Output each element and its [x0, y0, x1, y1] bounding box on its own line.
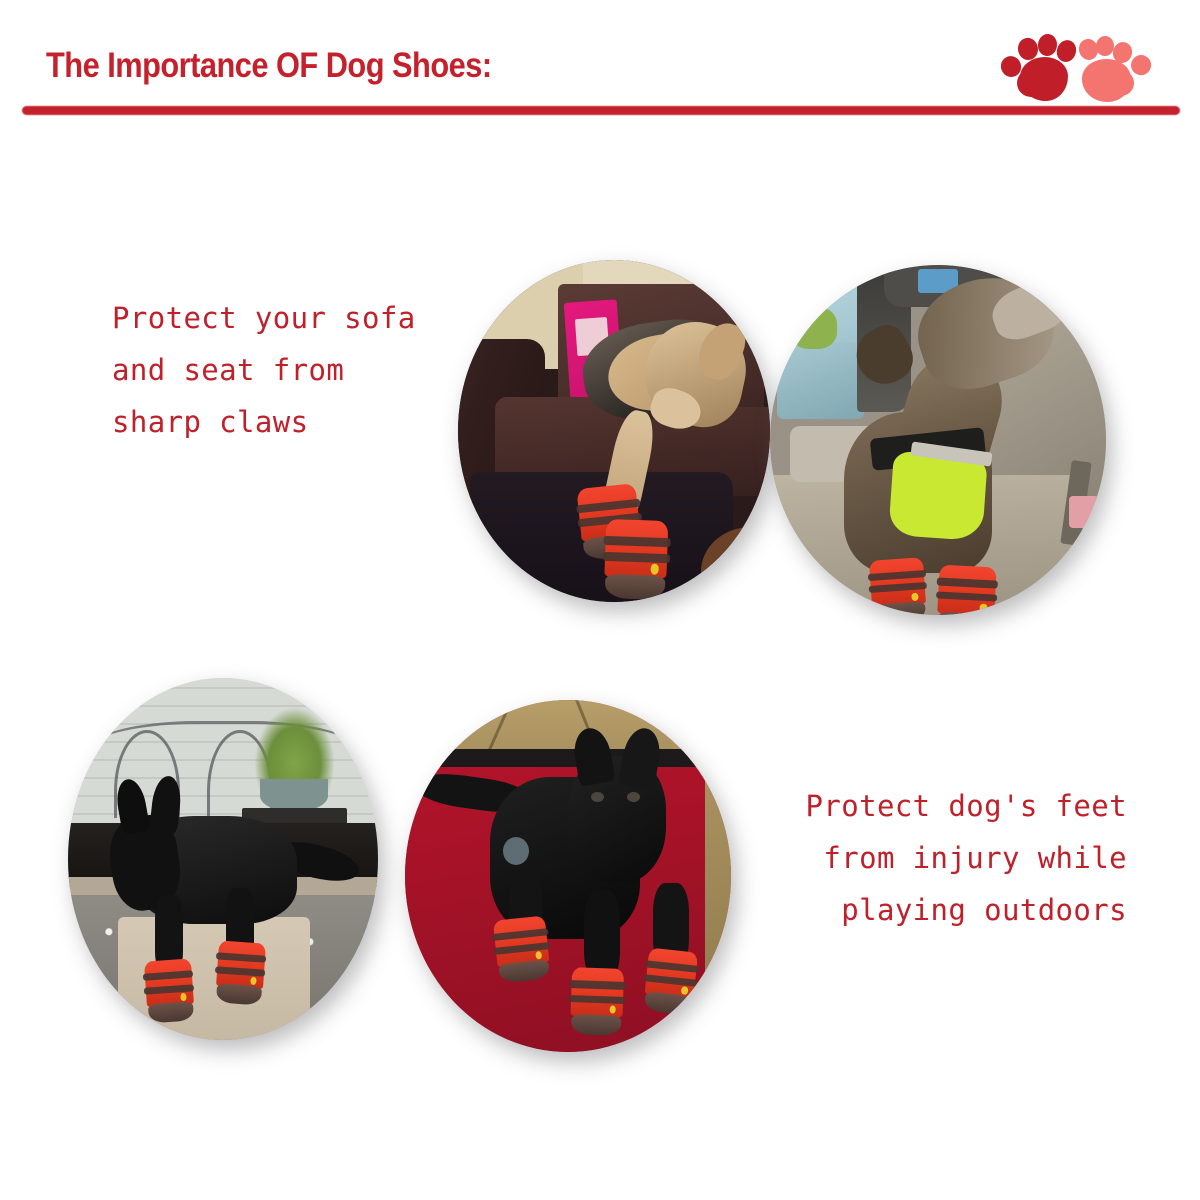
photo-dog-on-sofa	[458, 260, 770, 602]
yard-scene	[68, 678, 378, 1040]
photo-dog-in-car	[770, 265, 1106, 615]
dog-eye	[591, 792, 604, 803]
seat-belt-buckle	[1069, 496, 1099, 528]
callout-left-line-2: and seat from	[112, 344, 416, 396]
dog-harness	[888, 451, 988, 541]
page-title: The Importance OF Dog Shoes:	[46, 46, 492, 86]
dog-boot	[936, 565, 997, 615]
dog-boot	[603, 519, 668, 600]
callout-right-line-2: from injury while	[806, 832, 1127, 884]
paw-print-icon-light	[1076, 35, 1154, 103]
protect-feet-callout: Protect dog's feet from injury while pla…	[806, 780, 1127, 936]
paw-print-icon-dark	[1001, 33, 1079, 103]
dog-boot	[570, 967, 624, 1036]
callout-right-line-3: playing outdoors	[806, 884, 1127, 936]
header-divider-rule	[22, 106, 1180, 115]
dog-eye	[627, 792, 640, 803]
photo-dog-outdoors	[68, 678, 378, 1040]
callout-right-line-1: Protect dog's feet	[806, 780, 1127, 832]
page-header: The Importance OF Dog Shoes:	[0, 0, 1200, 130]
dog-boot	[869, 557, 927, 615]
car-window-rear	[777, 342, 864, 419]
car-scene	[770, 265, 1106, 615]
dog-boot	[643, 948, 698, 1016]
dog-boot	[493, 916, 551, 984]
protect-sofa-callout: Protect your sofa and seat from sharp cl…	[112, 292, 416, 448]
rug-border	[405, 749, 705, 767]
rug-scene	[405, 700, 731, 1052]
callout-left-line-3: sharp claws	[112, 396, 416, 448]
callout-left-line-1: Protect your sofa	[112, 292, 416, 344]
dog-boot	[143, 959, 194, 1024]
dog-boot	[215, 941, 266, 1006]
planter-pot	[260, 779, 328, 812]
photo-dog-on-rug	[405, 700, 731, 1052]
outside-greenery	[790, 307, 837, 349]
sofa-scene	[458, 260, 770, 602]
